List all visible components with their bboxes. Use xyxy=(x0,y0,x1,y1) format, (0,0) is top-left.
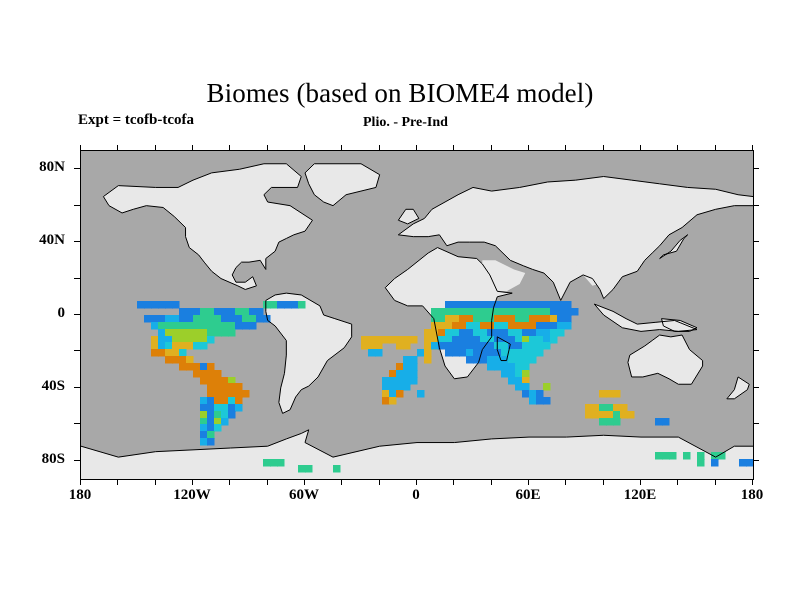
y-tick xyxy=(74,241,80,242)
x-tick xyxy=(341,145,342,151)
x-tick xyxy=(416,479,417,485)
x-axis-label: 60W xyxy=(289,487,319,504)
y-axis-label: 80N xyxy=(39,159,65,176)
x-tick xyxy=(528,479,529,485)
x-tick xyxy=(640,479,641,485)
x-tick xyxy=(267,479,268,485)
page-title: Biomes (based on BIOME4 model) xyxy=(0,78,800,109)
y-tick xyxy=(753,168,759,169)
y-tick xyxy=(753,205,759,206)
x-tick xyxy=(192,479,193,485)
y-tick xyxy=(74,168,80,169)
biome-map-canvas xyxy=(81,151,753,479)
y-tick xyxy=(753,387,759,388)
y-tick xyxy=(753,423,759,424)
x-tick xyxy=(155,145,156,151)
x-tick xyxy=(565,479,566,485)
y-tick xyxy=(74,314,80,315)
x-tick xyxy=(640,145,641,151)
x-tick xyxy=(80,145,81,151)
x-tick xyxy=(304,145,305,151)
x-tick xyxy=(528,145,529,151)
x-tick xyxy=(155,479,156,485)
x-axis-label: 60E xyxy=(515,487,540,504)
x-axis-label: 180 xyxy=(741,487,764,504)
x-tick xyxy=(603,145,604,151)
y-tick xyxy=(74,423,80,424)
x-tick xyxy=(453,145,454,151)
y-tick xyxy=(74,278,80,279)
y-tick xyxy=(753,241,759,242)
x-tick xyxy=(752,479,753,485)
x-tick xyxy=(565,145,566,151)
y-axis-label: 40N xyxy=(39,232,65,249)
x-axis-label: 180 xyxy=(69,487,92,504)
x-tick xyxy=(453,479,454,485)
x-tick xyxy=(267,145,268,151)
x-tick xyxy=(416,145,417,151)
x-tick xyxy=(715,145,716,151)
y-tick xyxy=(753,460,759,461)
y-tick xyxy=(74,460,80,461)
x-tick xyxy=(117,145,118,151)
y-tick xyxy=(753,278,759,279)
x-tick xyxy=(192,145,193,151)
y-tick xyxy=(74,205,80,206)
case-label: Plio. - Pre-Ind xyxy=(363,115,448,131)
x-tick xyxy=(752,145,753,151)
x-tick xyxy=(379,479,380,485)
y-tick xyxy=(74,350,80,351)
x-tick xyxy=(491,479,492,485)
x-axis-label: 0 xyxy=(412,487,420,504)
x-tick xyxy=(491,145,492,151)
y-tick xyxy=(753,314,759,315)
x-tick xyxy=(117,479,118,485)
y-tick xyxy=(74,387,80,388)
x-axis-label: 120W xyxy=(173,487,211,504)
x-tick xyxy=(677,479,678,485)
x-tick xyxy=(80,479,81,485)
y-axis-label: 0 xyxy=(58,305,66,322)
y-axis-label: 80S xyxy=(42,451,65,468)
y-tick xyxy=(753,350,759,351)
x-tick xyxy=(341,479,342,485)
x-tick xyxy=(677,145,678,151)
x-tick xyxy=(304,479,305,485)
x-tick xyxy=(715,479,716,485)
x-tick xyxy=(229,145,230,151)
x-axis-label: 120E xyxy=(624,487,657,504)
x-tick xyxy=(603,479,604,485)
x-tick xyxy=(229,479,230,485)
y-axis-label: 40S xyxy=(42,378,65,395)
figure-container: Biomes (based on BIOME4 model) Expt = tc… xyxy=(0,0,800,600)
x-tick xyxy=(379,145,380,151)
experiment-label: Expt = tcofb-tcofa xyxy=(78,112,194,129)
map-plot-area xyxy=(80,150,754,480)
